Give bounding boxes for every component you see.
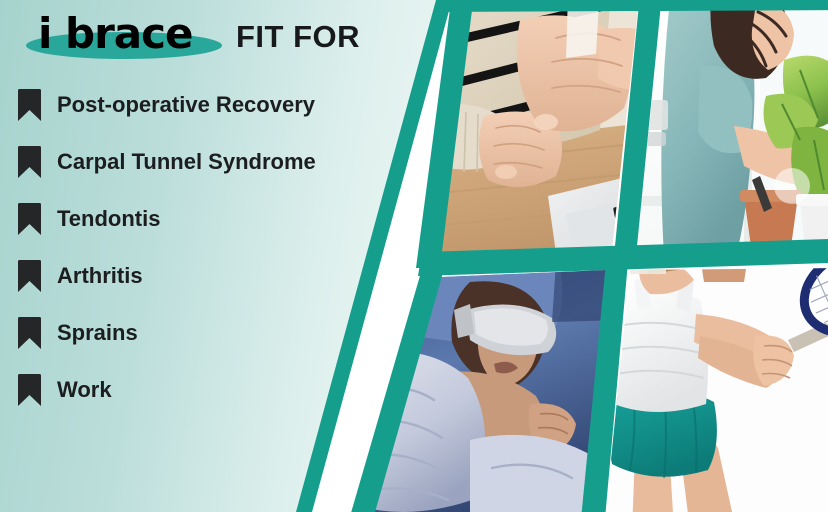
bookmark-icon: [18, 146, 41, 178]
list-item: Post-operative Recovery: [18, 88, 316, 122]
bookmark-icon: [18, 260, 41, 292]
bookmark-icon: [18, 203, 41, 235]
list-item-label: Carpal Tunnel Syndrome: [57, 149, 316, 175]
ibrace-logo[interactable]: i brace: [26, 10, 222, 66]
list-item-label: Arthritis: [57, 263, 143, 289]
list-item: Sprains: [18, 316, 316, 350]
list-item: Tendontis: [18, 202, 316, 236]
fit-for-banner: i brace FIT FOR Post-operative Recovery …: [0, 0, 828, 512]
page-title: FIT FOR: [236, 19, 360, 57]
list-item-label: Sprains: [57, 320, 138, 346]
list-item-label: Work: [57, 377, 112, 403]
feature-list: Post-operative Recovery Carpal Tunnel Sy…: [18, 88, 316, 407]
list-item: Carpal Tunnel Syndrome: [18, 145, 316, 179]
bookmark-icon: [18, 89, 41, 121]
photo-tennis: [596, 231, 828, 512]
list-item-label: Post-operative Recovery: [57, 92, 315, 118]
logo-row: i brace FIT FOR: [26, 10, 360, 66]
list-item: Arthritis: [18, 259, 316, 293]
bookmark-icon: [18, 317, 41, 349]
logo-wordmark: i brace: [38, 10, 193, 58]
list-item: Work: [18, 373, 316, 407]
bookmark-icon: [18, 374, 41, 406]
list-item-label: Tendontis: [57, 206, 160, 232]
